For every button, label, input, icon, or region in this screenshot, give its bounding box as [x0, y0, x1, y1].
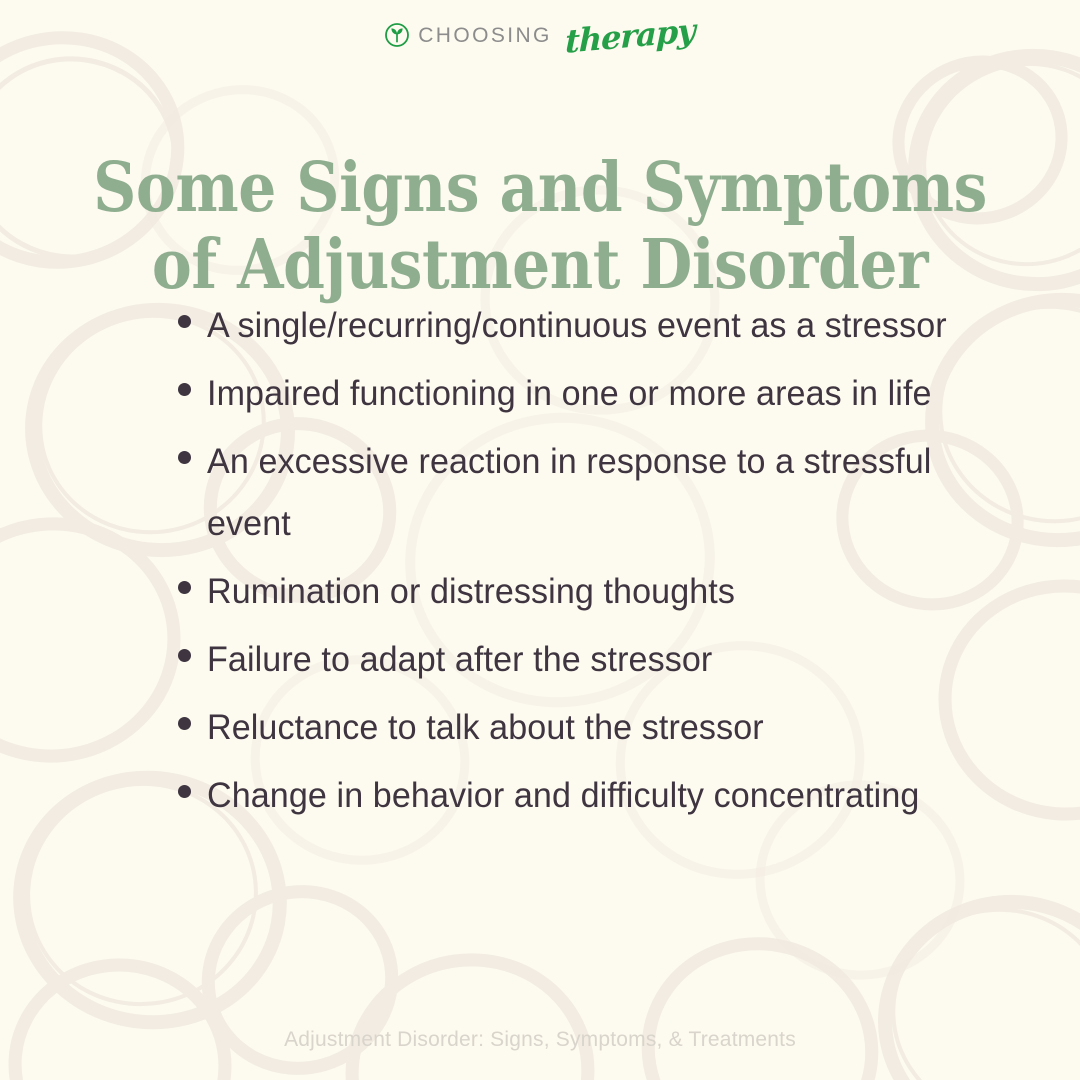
brand-logo: CHOOSING therapy [0, 18, 1080, 52]
bullet-dot-icon [178, 649, 191, 662]
symptom-list: A single/recurring/continuous event as a… [178, 294, 978, 832]
page-title: Some Signs and Symptoms of Adjustment Di… [65, 150, 1015, 305]
leaf-icon [385, 23, 409, 47]
list-item: Failure to adapt after the stressor [178, 628, 978, 690]
bullet-dot-icon [178, 581, 191, 594]
bullet-dot-icon [178, 785, 191, 798]
list-item-label: Failure to adapt after the stressor [207, 628, 947, 690]
list-item: Reluctance to talk about the stressor [178, 696, 978, 758]
list-item-label: Change in behavior and difficulty concen… [207, 764, 947, 826]
bullet-dot-icon [178, 451, 191, 464]
bullet-dot-icon [178, 315, 191, 328]
list-item: Rumination or distressing thoughts [178, 560, 978, 622]
bullet-dot-icon [178, 717, 191, 730]
bullet-dot-icon [178, 383, 191, 396]
list-item: An excessive reaction in response to a s… [178, 430, 978, 554]
page-title-line-2: of Adjustment Disorder [65, 227, 1015, 305]
infographic-card: CHOOSING therapy Some Signs and Symptoms… [0, 0, 1080, 1080]
brand-script-wordmark: therapy [565, 14, 695, 57]
list-item-label: Impaired functioning in one or more area… [207, 362, 947, 424]
list-item: A single/recurring/continuous event as a… [178, 294, 978, 356]
list-item-label: An excessive reaction in response to a s… [207, 430, 947, 554]
brand-wordmark: CHOOSING [418, 25, 552, 46]
list-item-label: A single/recurring/continuous event as a… [207, 294, 947, 356]
list-item: Impaired functioning in one or more area… [178, 362, 978, 424]
list-item-label: Reluctance to talk about the stressor [207, 696, 947, 758]
page-title-line-1: Some Signs and Symptoms [65, 150, 1015, 228]
list-item: Change in behavior and difficulty concen… [178, 764, 978, 826]
footer-caption: Adjustment Disorder: Signs, Symptoms, & … [0, 1028, 1080, 1052]
list-item-label: Rumination or distressing thoughts [207, 560, 947, 622]
